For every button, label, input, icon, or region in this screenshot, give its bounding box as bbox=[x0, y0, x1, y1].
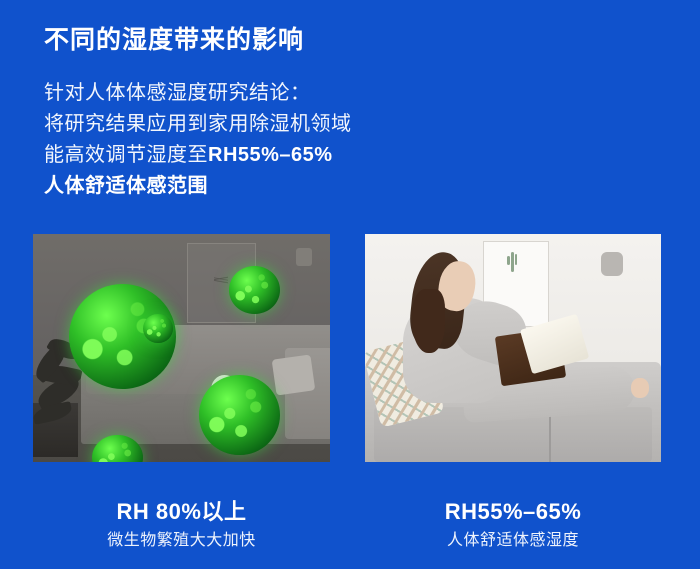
green-microbe-icon bbox=[143, 314, 173, 344]
right-caption-subtitle: 人体舒适体感湿度 bbox=[365, 530, 661, 552]
wall-speaker-icon bbox=[296, 248, 312, 266]
intro-line-1: 针对人体体感湿度研究结论： bbox=[44, 78, 484, 109]
intro-line-3-prefix: 能高效调节湿度至 bbox=[44, 144, 208, 166]
right-caption-title: RH55%–65% bbox=[365, 498, 661, 526]
dim-room-scene bbox=[33, 234, 330, 462]
comparison-panels bbox=[33, 234, 665, 462]
intro-line-2: 将研究结果应用到家用除湿机领域 bbox=[44, 109, 484, 140]
humidity-range-value: RH55%–65% bbox=[208, 144, 333, 166]
wall-speaker-icon bbox=[601, 252, 623, 276]
woman-hair-strand bbox=[412, 289, 445, 353]
intro-line-3: 能高效调节湿度至RH55%–65% bbox=[44, 140, 484, 171]
left-caption-subtitle: 微生物繁殖大大加快 bbox=[33, 530, 330, 552]
intro-text-block: 针对人体体感湿度研究结论： 将研究结果应用到家用除湿机领域 能高效调节湿度至RH… bbox=[44, 78, 484, 202]
intro-line-4: 人体舒适体感范围 bbox=[44, 171, 484, 202]
green-microbe-icon bbox=[199, 375, 279, 455]
panel-captions: RH 80%以上 微生物繁殖大大加快 RH55%–65% 人体舒适体感湿度 bbox=[0, 498, 700, 564]
left-caption-title: RH 80%以上 bbox=[33, 498, 330, 526]
green-microbe-icon bbox=[229, 266, 279, 314]
green-microbe-icon bbox=[92, 435, 142, 462]
right-panel-caption: RH55%–65% 人体舒适体感湿度 bbox=[365, 498, 661, 552]
cactus-icon bbox=[511, 252, 514, 272]
left-panel-caption: RH 80%以上 微生物繁殖大大加快 bbox=[33, 498, 330, 552]
bright-room-scene bbox=[365, 234, 661, 462]
woman-foot bbox=[631, 378, 649, 399]
woman-reading-on-sofa-photo bbox=[365, 234, 661, 462]
dim-room-with-green-microbes-photo bbox=[33, 234, 330, 462]
page-title: 不同的湿度带来的影响 bbox=[44, 20, 304, 56]
